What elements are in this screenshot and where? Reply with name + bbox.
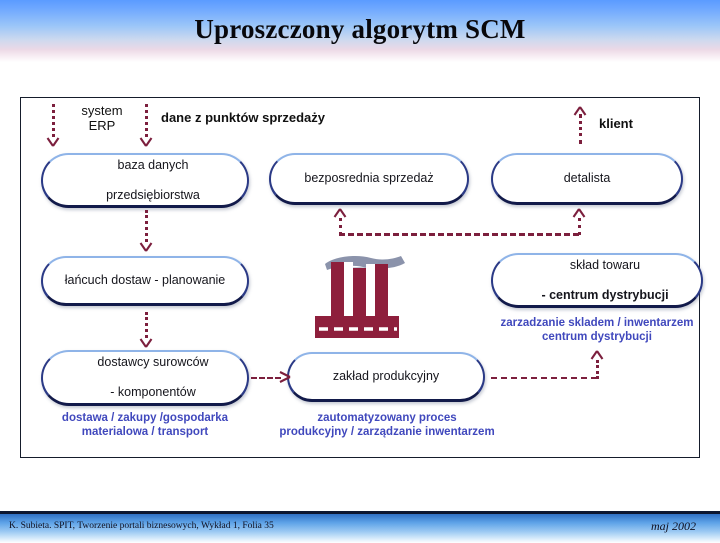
footer-date: maj 2002 [651, 519, 696, 534]
box-enterprise-database[interactable]: baza danych przedsiębiorstwa [41, 153, 249, 208]
connector-pos-to-database [145, 104, 148, 137]
label-client: klient [599, 116, 633, 131]
box-suppliers-line2: - komponentów [51, 385, 255, 400]
box-warehouse-distribution-label: skład towaru - centrum dystrybucji [493, 258, 701, 303]
caption-supply-line2: materialowa / transport [82, 426, 209, 438]
connector-plant-to-warehouse [491, 377, 597, 379]
slide: Uproszczony algorytm SCM system ERP dane… [0, 0, 720, 540]
caption-process-line2: produkcyjny / zarządzanie inwentarzem [279, 426, 494, 438]
connector-bus-to-sales-and-retailer [339, 233, 579, 236]
box-retailer[interactable]: detalista [491, 153, 683, 205]
arrowhead-down-suppliers [139, 335, 152, 346]
caption-supply-purchasing: dostawa / zakupy /gospodarka materialowa… [37, 411, 253, 439]
box-supply-chain-planning[interactable]: łańcuch dostaw - planowanie [41, 256, 249, 306]
box-warehouse-line2: - centrum dystrybucji [501, 288, 709, 303]
label-system-erp-line2: ERP [89, 118, 116, 133]
box-direct-sales-label: bezposrednia sprzedaż [271, 171, 467, 186]
box-production-plant[interactable]: zakład produkcyjny [287, 352, 485, 402]
footer-citation: K. Subieta. SPIT, Tworzenie portali bizn… [9, 521, 274, 531]
box-warehouse-distribution[interactable]: skład towaru - centrum dystrybucji [491, 253, 703, 308]
box-retailer-label: detalista [493, 171, 681, 186]
connector-database-to-supplychain [145, 210, 148, 242]
page-title: Uproszczony algorytm SCM [0, 14, 720, 45]
connector-erp-to-database [52, 104, 55, 137]
arrowhead-down-erp [46, 134, 59, 145]
arrowhead-up-client [573, 106, 586, 117]
box-warehouse-line1: skład towaru [501, 258, 709, 273]
slide-footer-band: K. Subieta. SPIT, Tworzenie portali bizn… [0, 511, 720, 543]
label-system-erp-line1: system [81, 103, 122, 118]
box-raw-material-suppliers-label: dostawcy surowców - komponentów [43, 355, 247, 400]
box-raw-material-suppliers[interactable]: dostawcy surowców - komponentów [41, 350, 249, 406]
box-production-plant-label: zakład produkcyjny [289, 369, 483, 384]
caption-process-line1: zautomatyzowany proces [317, 412, 456, 424]
box-enterprise-database-line2: przedsiębiorstwa [51, 188, 255, 203]
box-enterprise-database-label: baza danych przedsiębiorstwa [43, 158, 247, 203]
box-suppliers-line1: dostawcy surowców [51, 355, 255, 370]
caption-warehouse-line2: centrum dystrybucji [542, 331, 652, 343]
arrowhead-up-direct-sales [333, 208, 346, 219]
label-sales-point-data: dane z punktów sprzedaży [161, 110, 325, 125]
arrowhead-down-supplychain [139, 239, 152, 250]
box-direct-sales[interactable]: bezposrednia sprzedaż [269, 153, 469, 205]
arrowhead-right-plant [279, 370, 292, 381]
caption-supply-line1: dostawa / zakupy /gospodarka [62, 412, 228, 424]
caption-automated-process: zautomatyzowany proces produkcyjny / zar… [259, 411, 515, 439]
box-enterprise-database-line1: baza danych [51, 158, 255, 173]
caption-warehouse-line1: zarzadzanie skladem / inwentarzem [500, 317, 693, 329]
box-supply-chain-planning-label: łańcuch dostaw - planowanie [43, 273, 247, 288]
caption-warehouse-management: zarzadzanie skladem / inwentarzem centru… [469, 316, 720, 344]
factory-icon [301, 250, 413, 348]
diagram-frame: system ERP dane z punktów sprzedaży klie… [20, 97, 700, 458]
arrowhead-up-retailer [572, 208, 585, 219]
arrowhead-down-pos [139, 134, 152, 145]
connector-suppliers-to-plant [251, 377, 281, 379]
label-system-erp: system ERP [66, 103, 138, 133]
arrowhead-up-warehouse [590, 350, 603, 361]
